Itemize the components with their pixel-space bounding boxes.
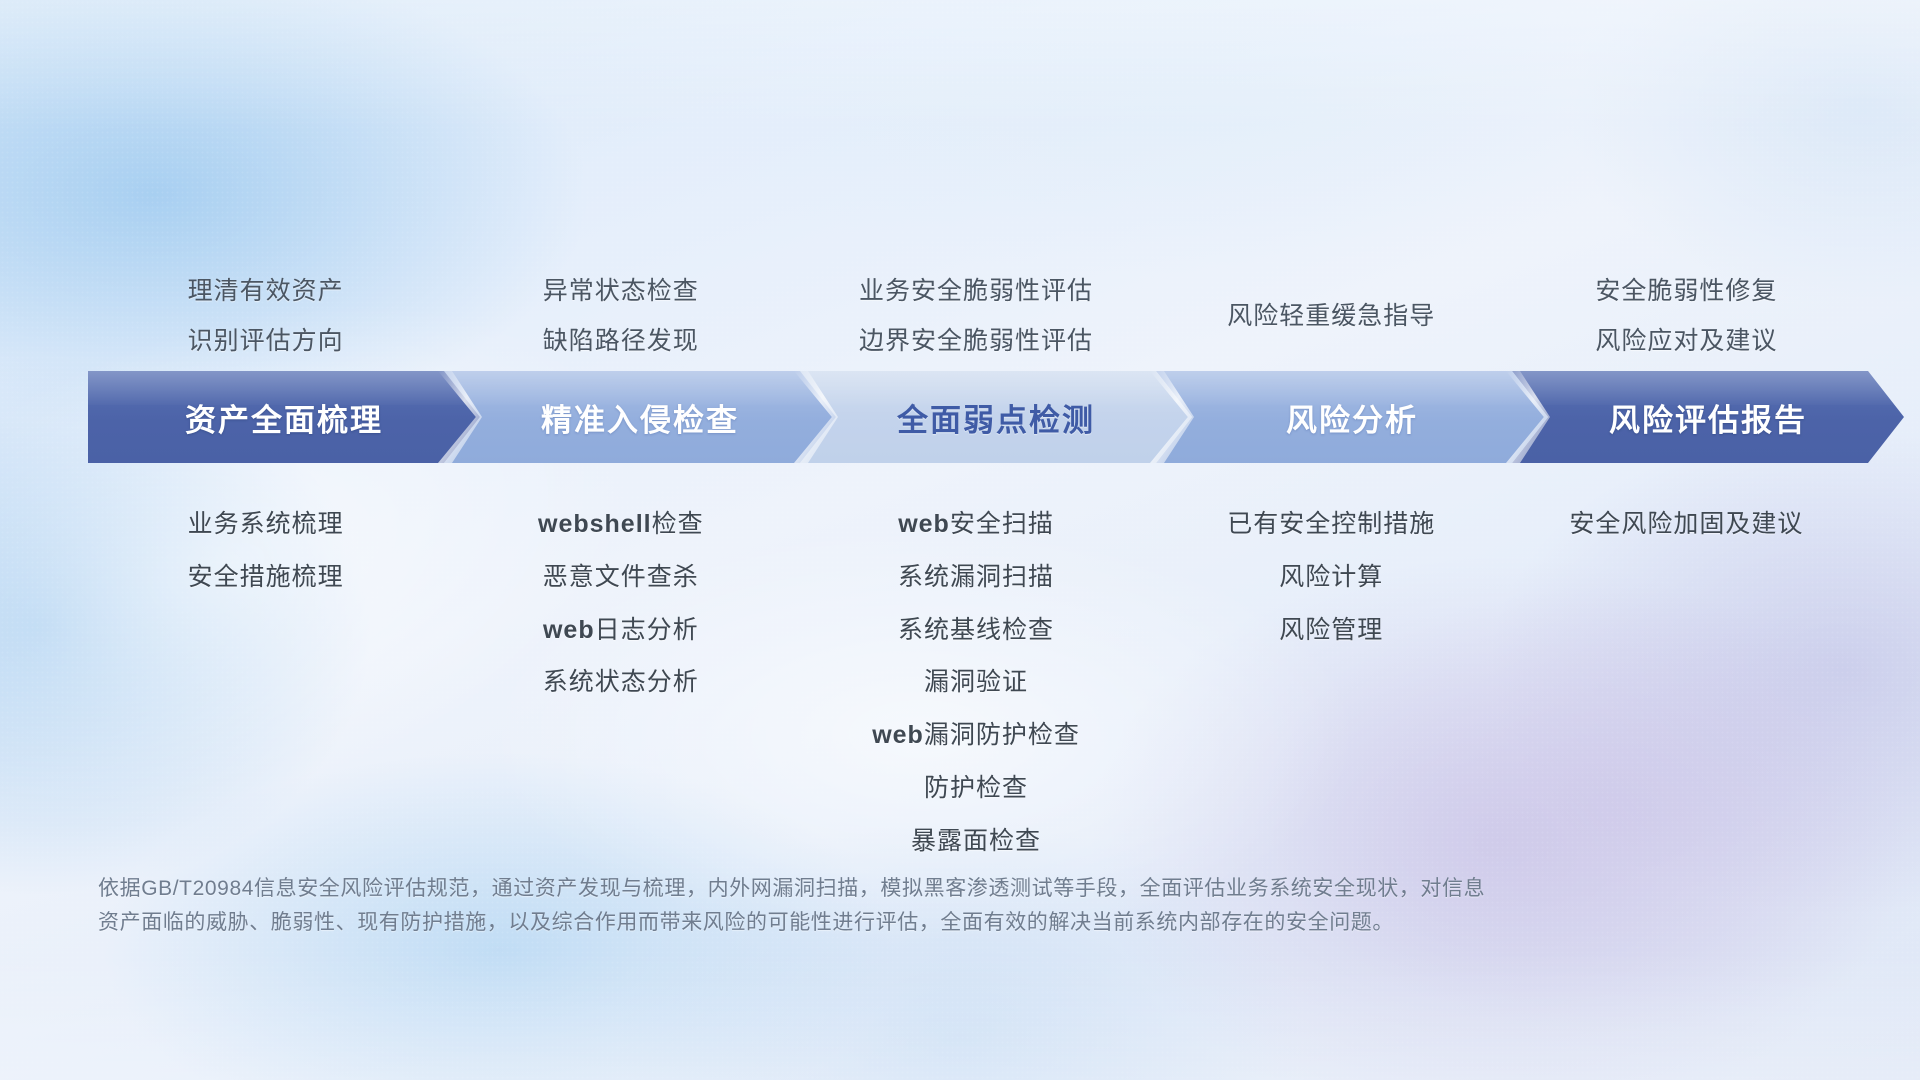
stage-5-top-list: 安全脆弱性修复风险应对及建议 — [1509, 278, 1864, 355]
stage-arrow-2[interactable]: 精准入侵检查 — [444, 371, 836, 463]
top-item: 理清有效资产 — [188, 278, 344, 306]
bottom-item: 恶意文件查杀 — [543, 558, 699, 597]
bottom-item: 业务系统梳理 — [188, 505, 344, 544]
process-diagram: 理清有效资产识别评估方向业务系统梳理安全措施梳理异常状态检查缺陷路径发现webs… — [0, 0, 1920, 1080]
top-item: 安全脆弱性修复 — [1595, 278, 1777, 306]
top-item: 边界安全脆弱性评估 — [859, 328, 1093, 356]
bottom-item: 已有安全控制措施 — [1227, 505, 1435, 544]
bottom-item-zh: 日志分析 — [595, 616, 699, 644]
bottom-item: 系统基线检查 — [898, 611, 1054, 650]
stage-1-bottom-list: 业务系统梳理安全措施梳理 — [88, 505, 443, 597]
bottom-item-zh: 业务系统梳理 — [188, 510, 344, 538]
stage-arrow-label: 风险分析 — [1286, 395, 1418, 440]
bottom-item-zh: 安全风险加固及建议 — [1569, 510, 1803, 538]
top-item: 异常状态检查 — [543, 278, 699, 306]
bottom-item-zh: 风险计算 — [1279, 563, 1383, 591]
stage-4-top-list: 风险轻重缓急指导 — [1154, 303, 1509, 331]
top-item: 风险轻重缓急指导 — [1227, 303, 1435, 331]
stage-arrow-label: 全面弱点检测 — [897, 395, 1095, 440]
bottom-item-zh: 已有安全控制措施 — [1227, 510, 1435, 538]
bottom-item: 暴露面检查 — [911, 822, 1041, 861]
top-item: 缺陷路径发现 — [543, 328, 699, 356]
bottom-item-zh: 检查 — [652, 510, 704, 538]
stage-arrow-1[interactable]: 资产全面梳理 — [88, 371, 480, 463]
top-item: 风险应对及建议 — [1595, 328, 1777, 356]
bottom-item: 漏洞验证 — [924, 663, 1028, 702]
stage-arrow-band: 资产全面梳理精准入侵检查全面弱点检测风险分析风险评估报告 — [88, 371, 1868, 463]
footer-line-1: 依据GB/T20984信息安全风险评估规范，通过资产发现与梳理，内外网漏洞扫描，… — [98, 872, 1658, 906]
bottom-item: 系统漏洞扫描 — [898, 558, 1054, 597]
bottom-item-en: web — [898, 510, 950, 538]
bottom-item-en: web — [872, 721, 924, 749]
bottom-item-zh: 系统状态分析 — [543, 668, 699, 696]
stage-3-bottom-list: web安全扫描系统漏洞扫描系统基线检查漏洞验证web漏洞防护检查防护检查暴露面检… — [798, 505, 1153, 860]
stage-arrow-3[interactable]: 全面弱点检测 — [800, 371, 1192, 463]
stage-2-top-list: 异常状态检查缺陷路径发现 — [443, 278, 798, 355]
bottom-item-zh: 防护检查 — [924, 774, 1028, 802]
bottom-item: web漏洞防护检查 — [872, 716, 1080, 755]
stage-arrow-label: 资产全面梳理 — [185, 395, 383, 440]
stage-2-bottom-list: webshell检查恶意文件查杀web日志分析系统状态分析 — [443, 505, 798, 702]
bottom-item: 安全风险加固及建议 — [1569, 505, 1803, 544]
top-item: 识别评估方向 — [188, 328, 344, 356]
stage-3-top-list: 业务安全脆弱性评估边界安全脆弱性评估 — [798, 278, 1153, 355]
bottom-item-zh: 漏洞验证 — [924, 668, 1028, 696]
bottom-item-en: webshell — [538, 510, 652, 538]
bottom-item: web日志分析 — [543, 611, 699, 650]
bottom-item: web安全扫描 — [898, 505, 1054, 544]
bottom-item: 风险计算 — [1279, 558, 1383, 597]
bottom-item: 系统状态分析 — [543, 663, 699, 702]
bottom-item: webshell检查 — [538, 505, 704, 544]
bottom-item: 安全措施梳理 — [188, 558, 344, 597]
stage-arrow-label: 精准入侵检查 — [541, 395, 739, 440]
stage-4-bottom-list: 已有安全控制措施风险计算风险管理 — [1154, 505, 1509, 649]
bottom-item-zh: 系统漏洞扫描 — [898, 563, 1054, 591]
stage-1-top-list: 理清有效资产识别评估方向 — [88, 278, 443, 355]
bottom-item-en: web — [543, 616, 595, 644]
stage-5-bottom-list: 安全风险加固及建议 — [1509, 505, 1864, 544]
bottom-item-zh: 恶意文件查杀 — [543, 563, 699, 591]
bottom-item-zh: 安全措施梳理 — [188, 563, 344, 591]
stage-arrow-4[interactable]: 风险分析 — [1156, 371, 1548, 463]
bottom-item-zh: 漏洞防护检查 — [924, 721, 1080, 749]
bottom-item-zh: 系统基线检查 — [898, 616, 1054, 644]
bottom-item: 防护检查 — [924, 769, 1028, 808]
footer-line-2: 资产面临的威胁、脆弱性、现有防护措施，以及综合作用而带来风险的可能性进行评估，全… — [98, 906, 1658, 940]
footer-description: 依据GB/T20984信息安全风险评估规范，通过资产发现与梳理，内外网漏洞扫描，… — [98, 872, 1658, 940]
bottom-item: 风险管理 — [1279, 611, 1383, 650]
bottom-item-zh: 安全扫描 — [950, 510, 1054, 538]
stage-arrow-5[interactable]: 风险评估报告 — [1512, 371, 1904, 463]
bottom-item-zh: 风险管理 — [1279, 616, 1383, 644]
top-item: 业务安全脆弱性评估 — [859, 278, 1093, 306]
bottom-item-zh: 暴露面检查 — [911, 827, 1041, 855]
stage-arrow-label: 风险评估报告 — [1609, 395, 1807, 440]
